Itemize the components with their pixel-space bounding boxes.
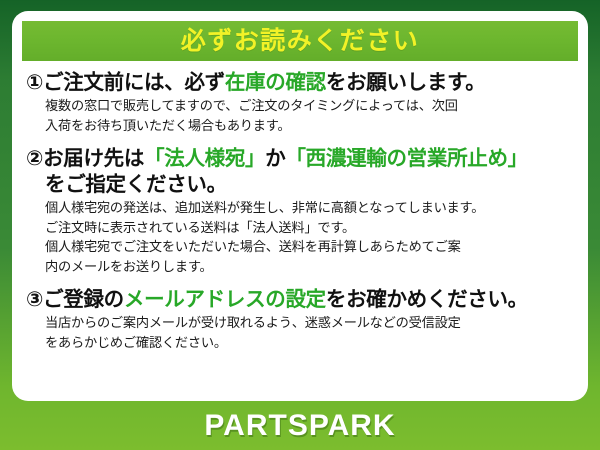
notice-item-3-marker: ③ [26, 288, 43, 311]
notice-item-2-sub-line-4: 内のメールをお送りします。 [45, 258, 574, 277]
notice-item-2-marker: ② [26, 147, 43, 170]
notice-card: 必ずお読みください ①ご注文前には、必ず在庫の確認をお願いします。 複数の窓口で… [12, 11, 588, 401]
notice-item-3-highlight: メールアドレスの設定 [124, 288, 326, 311]
header-banner: 必ずお読みください [22, 21, 578, 61]
notice-item-2-heading: ②お届け先は「法人様宛」か「西濃運輸の営業所止め」 をご指定ください。 [26, 146, 574, 198]
notice-item-3-sub-line-1: 当店からのご案内メールが受け取れるよう、迷惑メールなどの受信設定 [45, 314, 574, 333]
notice-item-1-sub-line-2: 入荷をお待ち頂いただく場合もあります。 [45, 117, 574, 136]
notice-item-2-heading-line-2: をご指定ください。 [45, 172, 574, 198]
notice-item-2-highlight-1: 「法人様宛」 [144, 147, 265, 170]
notice-item-1-marker: ① [26, 71, 43, 94]
notice-item-2-sub-line-3: 個人様宅宛でご注文をいただいた場合、送料を再計算しあらためてご案 [45, 238, 574, 257]
notice-item-1-highlight: 在庫の確認 [225, 71, 326, 94]
notice-item-2-text-a: お届け先は [43, 147, 144, 170]
page-title: 必ずお読みください [181, 29, 420, 54]
notice-item-2-sub-line-2: ご注文時に表示されている送料は「法人送料」です。 [45, 219, 574, 238]
footer-band: PARTSPARK [0, 401, 600, 450]
notice-item-1-text-a: ご注文前には、必ず [43, 71, 225, 94]
notice-item-2-sub-line-1: 個人様宅宛の発送は、追加送料が発生し、非常に高額となってしまいます。 [45, 199, 574, 218]
brand-logo: PARTSPARK [204, 411, 395, 441]
notice-item-2: ②お届け先は「法人様宛」か「西濃運輸の営業所止め」 をご指定ください。 個人様宅… [26, 146, 574, 277]
notice-item-1-text-b: をお願いします。 [326, 71, 486, 94]
notice-item-1-heading: ①ご注文前には、必ず在庫の確認をお願いします。 [26, 69, 574, 96]
notice-item-2-text-b: か [265, 147, 285, 170]
notice-item-3-heading: ③ご登録のメールアドレスの設定をお確かめください。 [26, 286, 574, 313]
notice-item-2-highlight-2: 「西濃運輸の営業所止め」 [285, 147, 527, 170]
notice-body: ①ご注文前には、必ず在庫の確認をお願いします。 複数の窓口で販売してますので、ご… [22, 61, 578, 352]
notice-item-1-sub-line-1: 複数の窓口で販売してますので、ご注文のタイミングによっては、次回 [45, 97, 574, 116]
notice-item-1: ①ご注文前には、必ず在庫の確認をお願いします。 複数の窓口で販売してますので、ご… [26, 69, 574, 136]
notice-item-3-sub-line-2: をあらかじめご確認ください。 [45, 334, 574, 353]
notice-item-3: ③ご登録のメールアドレスの設定をお確かめください。 当店からのご案内メールが受け… [26, 286, 574, 353]
notice-item-3-text-b: をお確かめください。 [326, 288, 528, 311]
notice-item-3-text-a: ご登録の [43, 288, 124, 311]
notice-frame: 必ずお読みください ①ご注文前には、必ず在庫の確認をお願いします。 複数の窓口で… [0, 0, 600, 450]
